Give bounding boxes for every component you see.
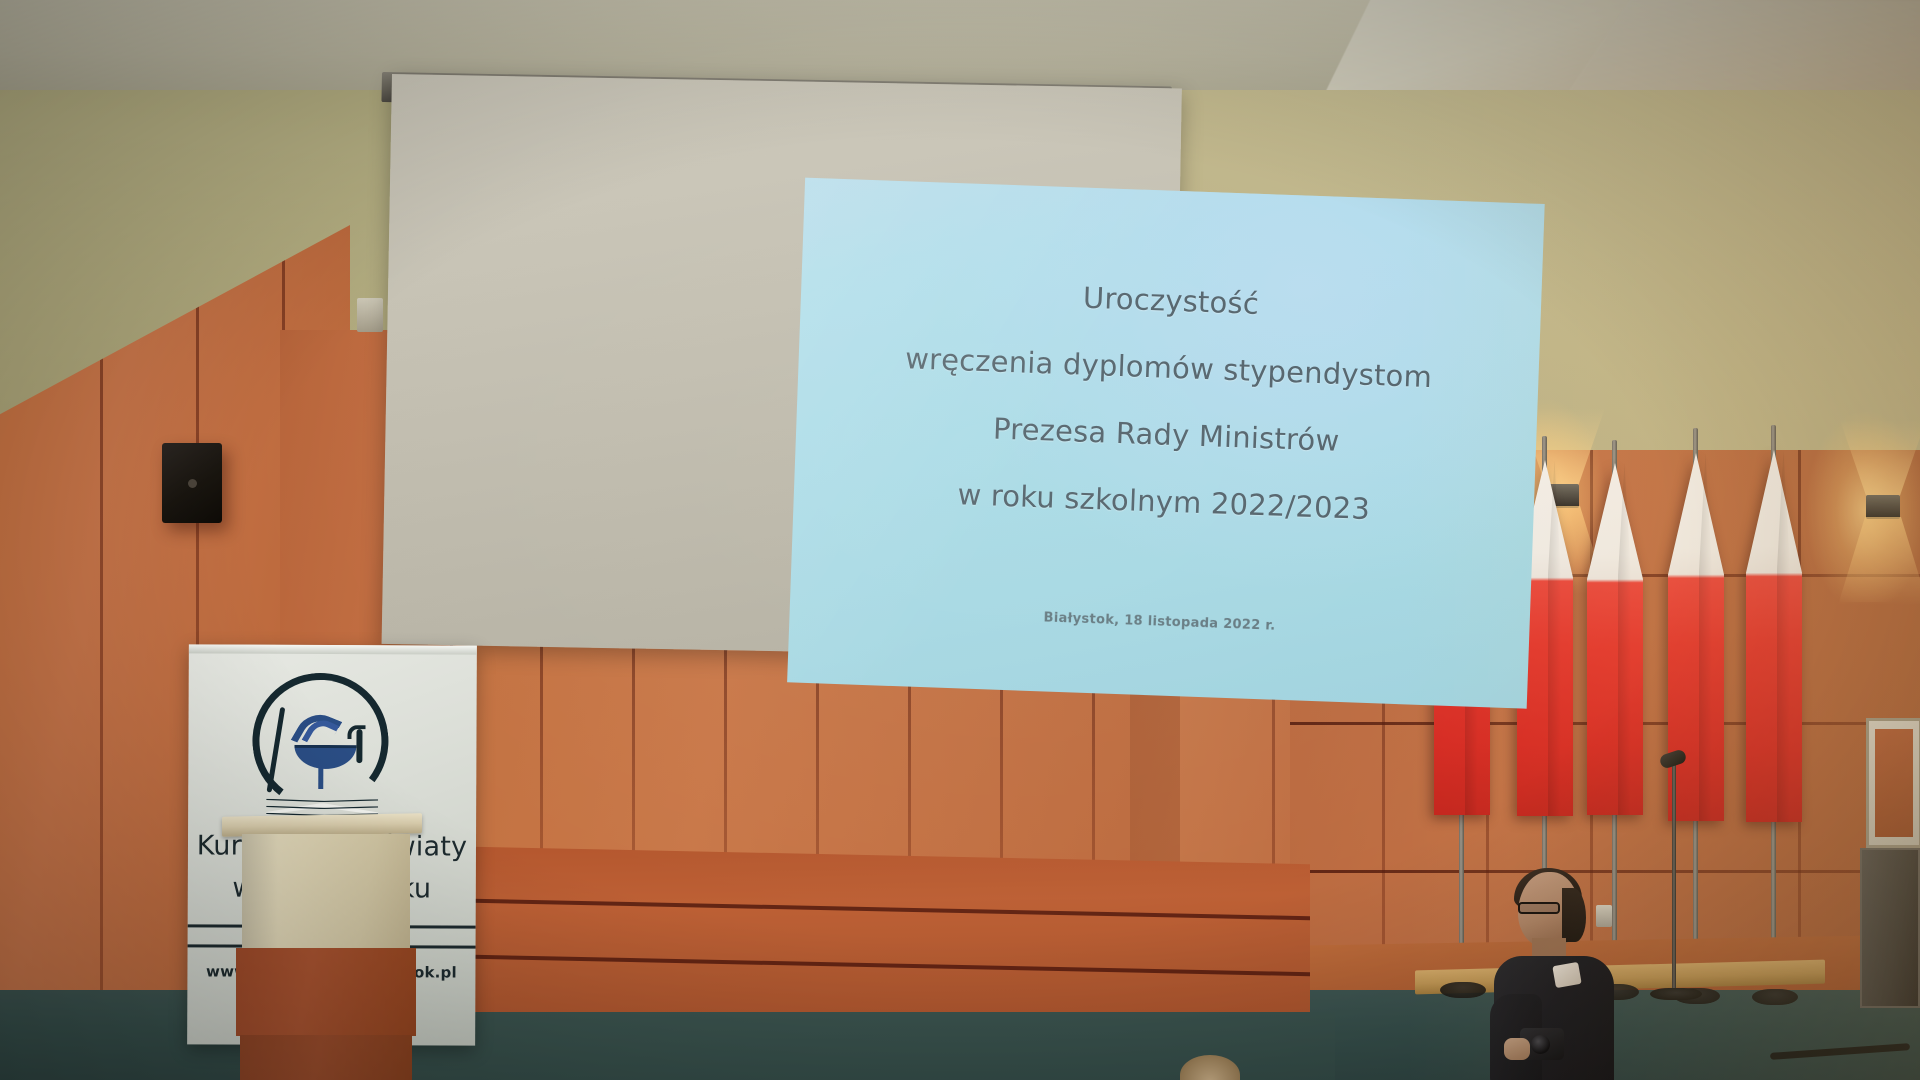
wall-sconce-right <box>1866 495 1900 519</box>
stage-front-band <box>390 845 1310 1039</box>
person-hair-back <box>1562 888 1586 942</box>
wall-speaker-left <box>162 443 222 523</box>
emblem-book-line <box>266 799 378 802</box>
clerical-collar <box>1552 962 1581 988</box>
panel-seam <box>100 265 103 1080</box>
slide-line-1: Uroczystość <box>801 274 1542 329</box>
projected-slide: Uroczystość wręczenia dyplomów stypendys… <box>787 178 1545 709</box>
stage-band-line <box>390 953 1310 976</box>
banner-top-rail <box>189 644 477 654</box>
flag-cloth <box>1587 463 1643 815</box>
slide-line-2: wręczenia dyplomów stypendystom <box>798 340 1539 395</box>
panel-seam <box>724 620 727 890</box>
photo-scene: Uroczystość wręczenia dyplomów stypendys… <box>0 0 1920 1080</box>
stage-band-line <box>390 897 1310 920</box>
polish-flag <box>1587 463 1643 815</box>
side-cabinet <box>1860 848 1920 1008</box>
microphone-stand-base <box>1650 988 1702 1000</box>
emblem-book-page <box>266 781 378 815</box>
flag-cloth <box>1746 450 1802 822</box>
polish-flag <box>1668 453 1724 821</box>
wooden-lectern <box>236 815 416 1080</box>
slide-line-4: w roku szkolnym 2022/2023 <box>794 474 1535 529</box>
slide-date: Białystok, 18 listopada 2022 r. <box>789 601 1529 642</box>
floor-microphone-stand <box>1672 760 1676 990</box>
lectern-shadow <box>242 834 278 950</box>
wall-picture-frame-inner <box>1875 729 1913 837</box>
polish-flag <box>1746 450 1802 822</box>
projection-screen: Uroczystość wręczenia dyplomów stypendys… <box>382 74 1182 658</box>
emblem-hook-icon <box>356 729 362 763</box>
lectern-base-panel <box>240 1035 412 1080</box>
speaker-cone-icon <box>188 479 197 488</box>
slide-text-block: Uroczystość wręczenia dyplomów stypendys… <box>792 274 1541 568</box>
lectern-mid-panel <box>236 948 416 1036</box>
flag-stand-base <box>1752 989 1798 1005</box>
flag-cloth <box>1668 453 1724 821</box>
slide-line-3: Prezesa Rady Ministrów <box>796 407 1537 462</box>
wall-light-left <box>357 298 383 332</box>
glasses-icon <box>1518 902 1560 914</box>
person-hand <box>1504 1038 1530 1060</box>
photographer-in-black <box>1478 872 1626 1080</box>
kuratorium-emblem-icon <box>246 671 397 822</box>
wall-picture-frame <box>1866 718 1920 848</box>
